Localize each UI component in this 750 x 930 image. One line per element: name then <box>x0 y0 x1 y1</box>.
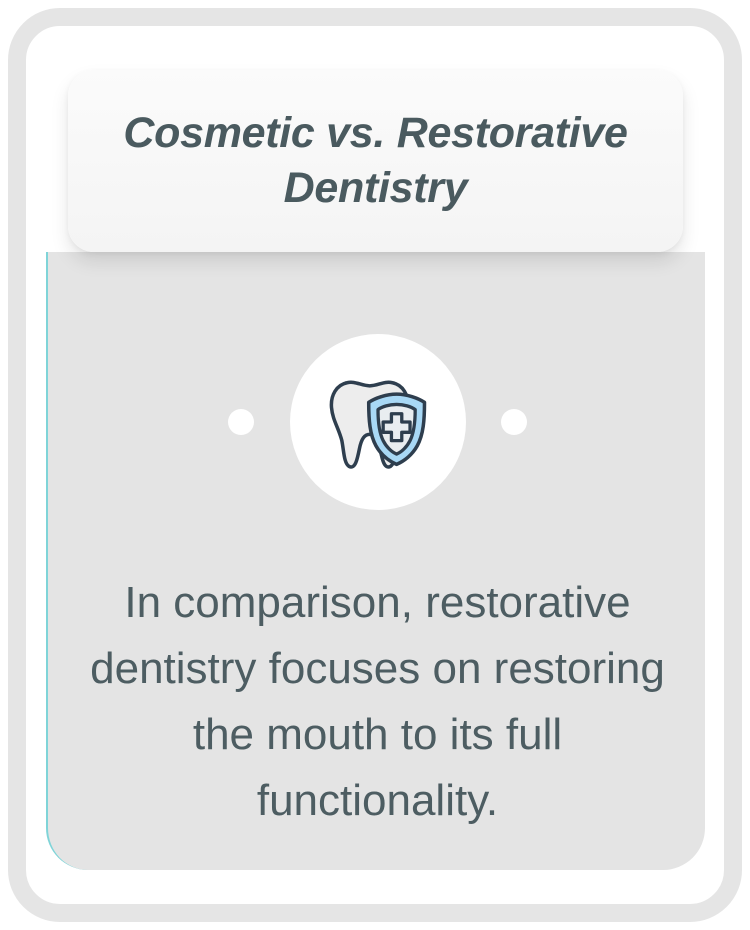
content-panel: In comparison, restorative dentistry foc… <box>46 252 705 870</box>
tooth-with-shield-icon <box>316 360 440 484</box>
title-card: Cosmetic vs. Restorative Dentistry <box>68 70 683 252</box>
decorative-dot-right-icon <box>501 409 527 435</box>
icon-zone <box>48 307 705 537</box>
card-body-text: In comparison, restorative dentistry foc… <box>78 570 677 834</box>
decorative-dot-left-icon <box>228 409 254 435</box>
slide-card: In comparison, restorative dentistry foc… <box>0 0 750 930</box>
icon-badge <box>290 334 466 510</box>
card-title: Cosmetic vs. Restorative Dentistry <box>69 106 683 216</box>
